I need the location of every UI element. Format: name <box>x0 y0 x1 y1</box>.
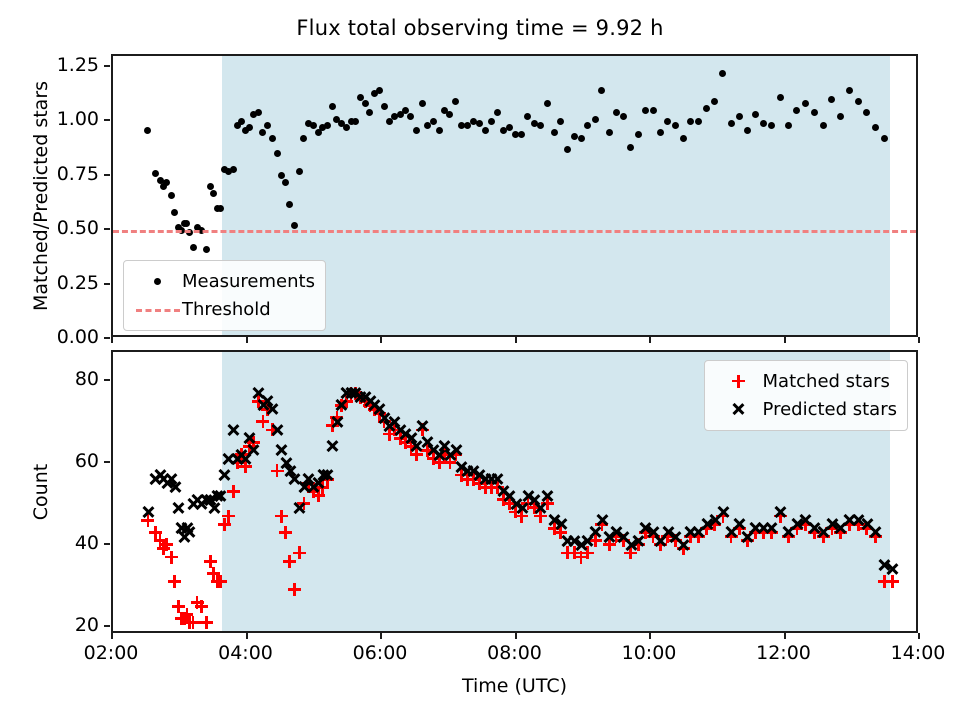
measurement-point <box>343 124 350 131</box>
legend-label-measurements: Measurements <box>182 271 315 292</box>
measurement-point <box>881 135 888 142</box>
bottom-panel-legend[interactable]: Matched stars Predicted stars <box>704 360 908 431</box>
measurement-point <box>366 109 373 116</box>
measurement-point <box>837 113 844 120</box>
predicted-star-point <box>226 422 241 437</box>
measurement-point <box>190 244 197 251</box>
matched-star-point <box>194 599 209 614</box>
measurement-point <box>657 129 664 136</box>
measurement-point <box>291 222 298 229</box>
measurement-point <box>238 118 245 125</box>
measurement-point <box>736 113 743 120</box>
measurement-point <box>855 98 862 105</box>
predicted-star-point <box>171 500 186 515</box>
matched-star-point <box>287 582 302 597</box>
measurement-point <box>296 168 303 175</box>
legend-label-predicted-stars: Predicted stars <box>763 399 897 420</box>
measurements-marker-icon <box>134 269 182 293</box>
measurement-point <box>820 122 827 129</box>
matched-star-point <box>292 545 307 560</box>
predicted-star-point <box>140 504 155 519</box>
measurement-point <box>476 120 483 127</box>
measurement-point <box>889 336 896 338</box>
measurement-point <box>863 109 870 116</box>
measurement-point <box>768 122 775 129</box>
figure-canvas: Flux total observing time = 9.92 h Measu… <box>0 0 960 720</box>
y-tick-mark <box>104 337 110 339</box>
page-title: Flux total observing time = 9.92 h <box>0 16 960 40</box>
x-tick-mark <box>649 633 651 639</box>
predicted-star-point <box>265 402 280 417</box>
measurement-point <box>687 118 694 125</box>
x-tick-label: 06:00 <box>353 642 408 664</box>
top-panel-legend[interactable]: Measurements Threshold <box>123 260 326 331</box>
measurement-point <box>672 122 679 129</box>
measurement-point <box>518 131 525 138</box>
measurement-point <box>488 118 495 125</box>
measurement-point <box>544 100 551 107</box>
measurement-point <box>744 127 751 134</box>
measurement-point <box>144 127 151 134</box>
matched-star-point <box>221 509 236 524</box>
measurement-point <box>506 124 513 131</box>
measurement-point <box>606 129 613 136</box>
measurement-point <box>203 246 210 253</box>
x-tick-mark-top-panel <box>649 337 651 343</box>
measurement-point <box>635 131 642 138</box>
measurement-point <box>324 122 331 129</box>
measurement-point <box>828 96 835 103</box>
measurement-point <box>446 111 453 118</box>
bottom-panel-axes: Matched stars Predicted stars <box>111 350 918 633</box>
measurement-point <box>695 118 702 125</box>
x-tick-mark-top-panel <box>111 337 113 343</box>
matched-star-point <box>199 615 214 630</box>
measurement-point <box>419 100 426 107</box>
x-tick-label: 14:00 <box>891 642 946 664</box>
y-tick-mark <box>104 461 110 463</box>
threshold-dash-icon <box>134 297 182 321</box>
predicted-star-point <box>292 500 307 515</box>
y-tick-mark <box>104 228 110 230</box>
legend-label-matched-stars: Matched stars <box>763 371 890 392</box>
x-marker-icon <box>715 397 763 421</box>
measurement-point <box>329 103 336 110</box>
measurement-point <box>785 122 792 129</box>
plus-marker-icon <box>715 369 763 393</box>
measurement-point <box>711 98 718 105</box>
measurement-point <box>703 105 710 112</box>
measurement-point <box>598 87 605 94</box>
measurement-point <box>719 70 726 77</box>
predicted-star-point <box>182 525 197 540</box>
legend-item-predicted-stars[interactable]: Predicted stars <box>715 395 897 423</box>
x-tick-label: 04:00 <box>218 642 273 664</box>
measurement-point <box>230 166 237 173</box>
predicted-star-point <box>217 468 232 483</box>
predicted-star-point <box>213 488 228 503</box>
legend-label-threshold: Threshold <box>182 299 271 320</box>
x-tick-mark-top-panel <box>246 337 248 343</box>
predicted-star-point <box>415 418 430 433</box>
predicted-star-point <box>540 488 555 503</box>
measurement-point <box>551 129 558 136</box>
measurement-point <box>557 118 564 125</box>
y-tick-mark <box>104 625 110 627</box>
measurement-point <box>282 179 289 186</box>
measurement-point <box>163 179 170 186</box>
measurement-point <box>537 122 544 129</box>
measurement-point <box>310 122 317 129</box>
measurement-point <box>728 120 735 127</box>
legend-item-threshold[interactable]: Threshold <box>134 295 315 323</box>
measurement-point <box>846 87 853 94</box>
measurement-point <box>760 120 767 127</box>
measurement-point <box>664 118 671 125</box>
y-tick-mark <box>104 379 110 381</box>
measurement-point <box>274 150 281 157</box>
measurement-point <box>627 144 634 151</box>
measurement-point <box>642 107 649 114</box>
measurement-point <box>183 220 190 227</box>
y-tick-mark <box>104 543 110 545</box>
x-tick-mark <box>246 633 248 639</box>
measurement-point <box>578 135 585 142</box>
predicted-star-point <box>715 504 730 519</box>
measurement-point <box>452 98 459 105</box>
predicted-star-point <box>246 443 261 458</box>
measurement-point <box>584 122 591 129</box>
measurement-point <box>376 87 383 94</box>
predicted-star-point <box>868 525 883 540</box>
y-tick-mark <box>104 65 110 67</box>
legend-item-matched-stars[interactable]: Matched stars <box>715 367 897 395</box>
measurement-point <box>811 109 818 116</box>
measurement-point <box>210 190 217 197</box>
predicted-star-point <box>553 517 568 532</box>
measurement-point <box>564 146 571 153</box>
measurement-point <box>571 133 578 140</box>
matched-star-point <box>274 509 289 524</box>
top-panel-y-axis-label: Matched/Predicted stars <box>30 80 52 310</box>
measurement-point <box>613 109 620 116</box>
x-tick-label: 02:00 <box>84 642 139 664</box>
measurement-point <box>152 170 159 177</box>
y-tick-label: 80 <box>0 368 99 390</box>
matched-star-point <box>213 574 228 589</box>
matched-star-point <box>167 574 182 589</box>
measurement-point <box>217 205 224 212</box>
measurement-point <box>171 209 178 216</box>
measurement-point <box>777 94 784 101</box>
measurement-point <box>494 109 501 116</box>
x-tick-mark <box>784 633 786 639</box>
x-tick-mark-top-panel <box>918 337 920 343</box>
measurement-point <box>255 109 262 116</box>
measurement-point <box>872 124 879 131</box>
measurement-point <box>436 127 443 134</box>
y-tick-label: 20 <box>0 614 99 636</box>
legend-item-measurements[interactable]: Measurements <box>134 267 315 295</box>
threshold-line <box>113 230 916 233</box>
x-tick-label: 08:00 <box>487 642 542 664</box>
x-tick-label: 10:00 <box>622 642 677 664</box>
y-tick-mark <box>104 119 110 121</box>
predicted-star-point <box>320 468 335 483</box>
matched-star-point <box>278 525 293 540</box>
top-panel-axes: Measurements Threshold <box>111 54 918 337</box>
matched-star-point <box>164 550 179 565</box>
x-tick-mark-top-panel <box>515 337 517 343</box>
measurement-point <box>592 116 599 123</box>
predicted-star-point <box>448 443 463 458</box>
y-tick-label: 40 <box>0 532 99 554</box>
measurement-point <box>264 122 271 129</box>
x-tick-mark <box>380 633 382 639</box>
predicted-star-point <box>885 562 900 577</box>
y-tick-label: 0.00 <box>0 326 99 348</box>
measurement-point <box>752 111 759 118</box>
measurement-point <box>362 100 369 107</box>
measurement-point <box>430 118 437 125</box>
measurement-point <box>680 135 687 142</box>
y-tick-mark <box>104 174 110 176</box>
predicted-star-point <box>270 422 285 437</box>
measurement-point <box>259 129 266 136</box>
measurement-point <box>524 113 531 120</box>
measurement-point <box>482 127 489 134</box>
measurement-point <box>246 124 253 131</box>
measurement-point <box>413 127 420 134</box>
predicted-star-point <box>594 513 609 528</box>
x-tick-mark <box>918 633 920 639</box>
measurement-point <box>269 135 276 142</box>
x-tick-mark-top-panel <box>380 337 382 343</box>
measurement-point <box>802 100 809 107</box>
measurement-point <box>352 118 359 125</box>
matched-star-point <box>226 484 241 499</box>
measurement-point <box>168 192 175 199</box>
bottom-panel-y-axis-label: Count <box>30 463 52 519</box>
y-tick-mark <box>104 283 110 285</box>
predicted-star-point <box>773 504 788 519</box>
x-tick-mark-top-panel <box>784 337 786 343</box>
predicted-star-point <box>325 439 340 454</box>
x-tick-mark <box>515 633 517 639</box>
measurement-point <box>793 107 800 114</box>
x-tick-label: 12:00 <box>756 642 811 664</box>
measurement-point <box>620 113 627 120</box>
measurement-point <box>286 201 293 208</box>
predicted-star-point <box>764 521 779 536</box>
measurement-point <box>407 113 414 120</box>
measurement-point <box>650 107 657 114</box>
x-axis-label: Time (UTC) <box>111 675 918 697</box>
measurement-point <box>300 135 307 142</box>
predicted-star-point <box>167 480 182 495</box>
measurement-point <box>381 103 388 110</box>
x-tick-mark <box>111 633 113 639</box>
y-tick-label: 1.25 <box>0 54 99 76</box>
predicted-star-point <box>329 414 344 429</box>
